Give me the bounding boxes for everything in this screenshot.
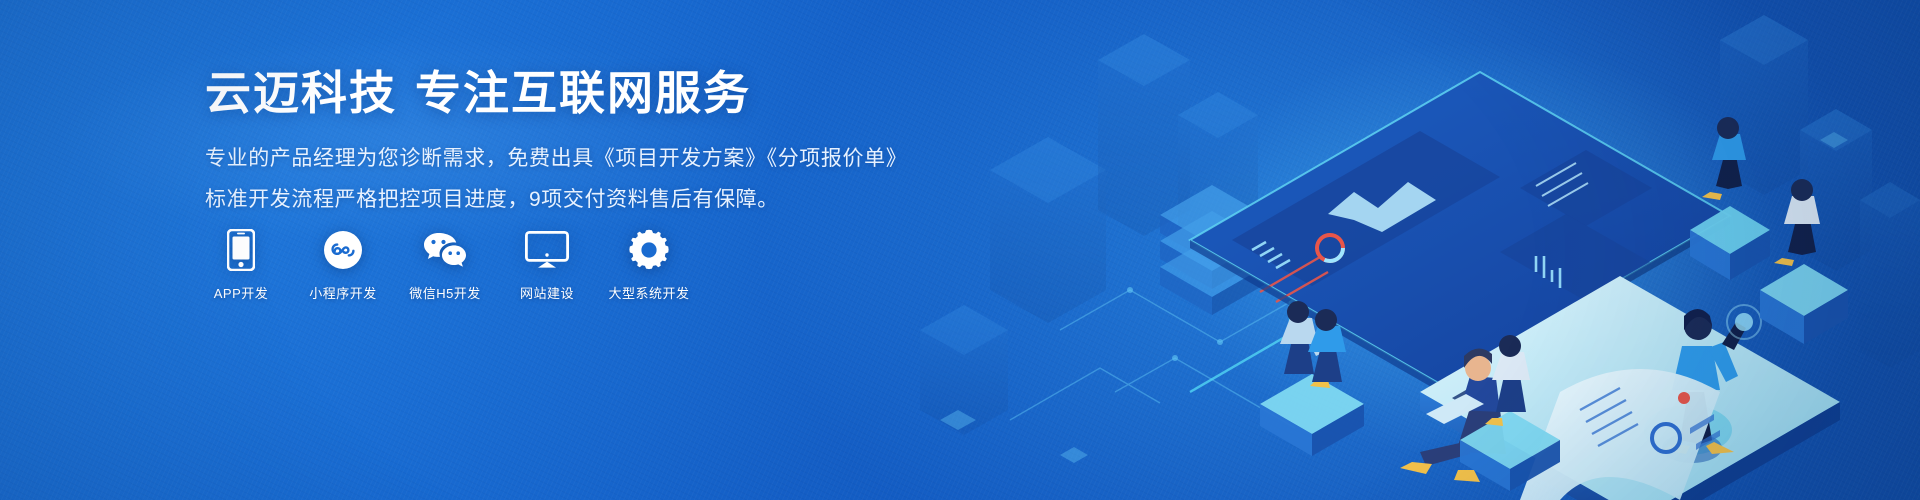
page-title: 云迈科技专注互联网服务: [205, 68, 945, 120]
subtitle-line-2: 标准开发流程严格把控项目进度，9项交付资料售后有保障。: [205, 183, 945, 217]
gear-icon: [628, 228, 670, 272]
service-label: APP开发: [214, 283, 269, 302]
service-label: 小程序开发: [309, 283, 377, 302]
service-item-app[interactable]: APP开发: [205, 228, 277, 302]
service-label: 大型系统开发: [609, 283, 690, 302]
mini-program-icon: [323, 228, 363, 272]
service-item-wechat-h5[interactable]: 微信H5开发: [409, 228, 481, 302]
headline-brand: 云迈科技: [205, 67, 397, 119]
subtitle-line-1: 专业的产品经理为您诊断需求，免费出具《项目开发方案》《分项报价单》: [205, 142, 945, 176]
service-item-website[interactable]: 网站建设: [511, 228, 583, 302]
service-label: 微信H5开发: [409, 283, 481, 302]
illustration-isometric-dashboard: [860, 0, 1920, 500]
monitor-icon: [525, 228, 569, 272]
service-item-large-system[interactable]: 大型系统开发: [613, 228, 685, 302]
service-list: APP开发 小程序开发: [205, 228, 685, 302]
mobile-phone-icon: [227, 228, 255, 272]
headline-tagline: 专注互联网服务: [415, 67, 751, 119]
service-item-miniprogram[interactable]: 小程序开发: [307, 228, 379, 302]
wechat-icon: [422, 228, 468, 272]
service-label: 网站建设: [520, 283, 574, 302]
hero-copy: 云迈科技专注互联网服务 专业的产品经理为您诊断需求，免费出具《项目开发方案》《分…: [205, 68, 945, 224]
hero-subtitle: 专业的产品经理为您诊断需求，免费出具《项目开发方案》《分项报价单》 标准开发流程…: [205, 120, 945, 217]
hero-banner: 云迈科技专注互联网服务 专业的产品经理为您诊断需求，免费出具《项目开发方案》《分…: [0, 0, 1920, 500]
